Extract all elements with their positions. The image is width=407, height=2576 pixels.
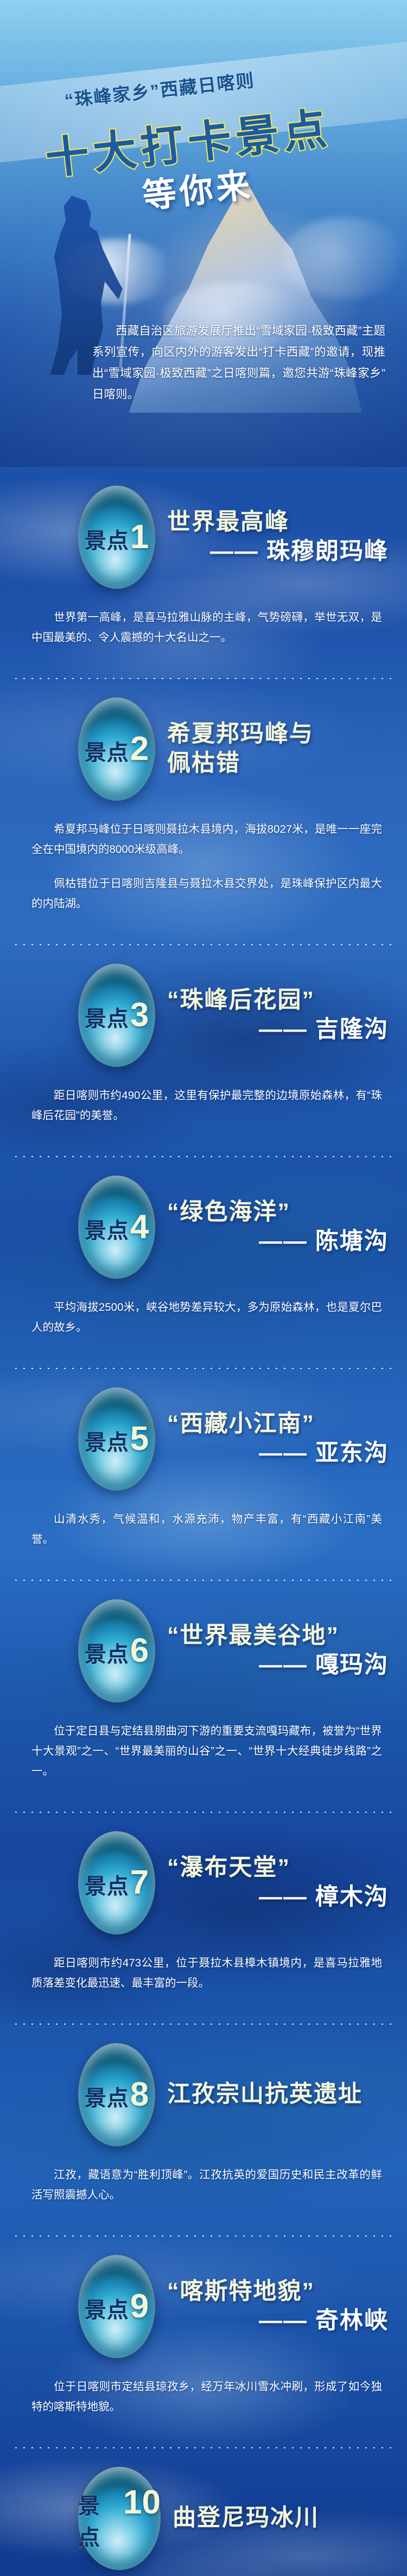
spot-header: 景点5“西藏小江南”—— 亚东沟 (18, 1387, 389, 1491)
spot-description: 距日喀则市约490公里，这里有保护最完整的边境原始森林，有“珠峰后花园”的美誉。 (31, 1085, 382, 1126)
spot-number-badge[interactable]: 景点3 (78, 964, 155, 1067)
intro-paragraph: 西藏自治区旅游发展厅推出“雪域家园·极致西藏”主题系列宣传，向区内外的游客发出“… (92, 321, 385, 405)
badge-inner: 景点2 (85, 734, 149, 766)
spot-description-paragraph: 希夏邦马峰位于日喀则聂拉木县境内，海拔8027米，是唯一一座完全在中国境内的80… (31, 819, 382, 859)
spot-description: 距日喀则市约473公里，位于聂拉木县樟木镇境内，是喜马拉雅地质落差变化最迅速、最… (31, 1953, 382, 1993)
spot-section: 景点7“瀑布天堂”—— 樟木沟距日喀则市约473公里，位于聂拉木县樟木镇境内，是… (0, 1813, 407, 2025)
spot-content: 景点3“珠峰后花园”—— 吉隆沟距日喀则市约490公里，这里有保护最完整的边境原… (0, 945, 407, 1142)
badge-number: 5 (130, 1424, 149, 1454)
spot-header: 景点6“世界最美谷地”—— 嘎玛沟 (18, 1599, 389, 1702)
spot-description-paragraph: 江孜，藏语意为“胜利顶峰”。江孜抗英的爱国历史和民主改革的鲜活写照震撼人心。 (31, 2165, 382, 2205)
section-divider (12, 944, 395, 945)
spot-title: “瀑布天堂”—— 樟木沟 (167, 1854, 389, 1912)
spot-description-paragraph: 佩枯错位于日喀则吉隆县与聂拉木县交界处，是珠峰保护区内最大的内陆湖。 (31, 874, 382, 914)
spot-title: 曲登尼玛冰川 (173, 2504, 389, 2533)
section-divider (12, 1156, 395, 1157)
spot-header: 景点8江孜宗山抗英遗址 (18, 2043, 389, 2146)
header-banner: “珠峰家乡”西藏日喀则 十大打卡景点 等你来 西藏自治区旅游发展厅推出“雪域家园… (0, 0, 407, 467)
spot-section: 景点4“绿色海洋”—— 陈塘沟平均海拔2500米，峡谷地势差异较大，多为原始森林… (0, 1157, 407, 1369)
spot-title: 江孜宗山抗英遗址 (167, 2080, 389, 2109)
spot-title: “喀斯特地貌”—— 奇林峡 (167, 2277, 389, 2336)
section-divider (12, 678, 395, 679)
spot-section: 景点8江孜宗山抗英遗址江孜，藏语意为“胜利顶峰”。江孜抗英的爱国历史和民主改革的… (0, 2025, 407, 2236)
spot-title-line-1: “瀑布天堂” (167, 1854, 389, 1883)
spot-header: 景点2希夏邦玛峰与佩枯错 (18, 698, 389, 801)
badge-inner: 景点4 (85, 1212, 149, 1245)
spot-description: 平均海拔2500米，峡谷地势差异较大，多为原始森林，也是夏尔巴人的故乡。 (31, 1297, 382, 1337)
badge-inner: 景点7 (85, 1868, 149, 1900)
spot-title: “西藏小江南”—— 亚东沟 (167, 1410, 389, 1468)
badge-label: 景点 (85, 1637, 129, 1668)
infographic-page: “珠峰家乡”西藏日喀则 十大打卡景点 等你来 西藏自治区旅游发展厅推出“雪域家园… (0, 0, 407, 2576)
spot-description-paragraph: 位于日喀则市定结县琼孜乡，经万年冰川雪水冲刷，形成了如今独特的喀斯特地貌。 (31, 2377, 382, 2417)
spot-section: 景点2希夏邦玛峰与佩枯错希夏邦马峰位于日喀则聂拉木县境内，海拔8027米，是唯一… (0, 679, 407, 945)
spot-number-badge[interactable]: 景点2 (78, 698, 155, 801)
spot-title: “珠峰后花园”—— 吉隆沟 (167, 986, 389, 1045)
spot-header: 景点4“绿色海洋”—— 陈塘沟 (18, 1176, 389, 1279)
spot-description-paragraph: 山清水秀，气候温和，水源充沛，物产丰富，有“西藏小江南”美誉。 (31, 1509, 382, 1549)
spot-description: 山清水秀，气候温和，水源充沛，物产丰富，有“西藏小江南”美誉。 (31, 1509, 382, 1549)
spot-title-line-2: —— 吉隆沟 (167, 1015, 389, 1045)
spot-title-line-1: 世界最高峰 (167, 508, 389, 537)
spot-title-line-1: 江孜宗山抗英遗址 (167, 2080, 389, 2109)
spot-header: 景点9“喀斯特地貌”—— 奇林峡 (18, 2255, 389, 2358)
spot-section: 景点9“喀斯特地貌”—— 奇林峡位于日喀则市定结县琼孜乡，经万年冰川雪水冲刷，形… (0, 2236, 407, 2448)
spot-description: 世界第一高峰，是喜马拉雅山脉的主峰，气势磅礴，举世无双，是中国最美的、令人震撼的… (31, 607, 382, 648)
section-divider (12, 1368, 395, 1369)
spot-description-paragraph: 平均海拔2500米，峡谷地势差异较大，多为原始森林，也是夏尔巴人的故乡。 (31, 1297, 382, 1337)
badge-label: 景点 (78, 2489, 122, 2552)
spot-title-line-1: 希夏邦玛峰与 (167, 720, 389, 749)
spot-header: 景点10曲登尼玛冰川 (18, 2467, 389, 2570)
badge-inner: 景点1 (85, 522, 149, 555)
spot-description-paragraph: 距日喀则市约490公里，这里有保护最完整的边境原始森林，有“珠峰后花园”的美誉。 (31, 1085, 382, 1126)
spot-title-line-1: “喀斯特地貌” (167, 2277, 389, 2307)
spot-title: 希夏邦玛峰与佩枯错 (167, 720, 389, 778)
badge-label: 景点 (85, 2081, 129, 2112)
badge-number: 2 (130, 734, 149, 764)
spot-number-badge[interactable]: 景点1 (78, 486, 155, 589)
spot-title-line-1: “西藏小江南” (167, 1410, 389, 1439)
spot-header: 景点7“瀑布天堂”—— 樟木沟 (18, 1831, 389, 1934)
spot-content: 景点9“喀斯特地貌”—— 奇林峡位于日喀则市定结县琼孜乡，经万年冰川雪水冲刷，形… (0, 2236, 407, 2433)
spot-content: 景点4“绿色海洋”—— 陈塘沟平均海拔2500米，峡谷地势差异较大，多为原始森林… (0, 1157, 407, 1354)
spot-title-line-1: “珠峰后花园” (167, 986, 389, 1015)
spot-number-badge[interactable]: 景点7 (78, 1831, 155, 1934)
spot-title-line-1: “世界最美谷地” (167, 1622, 389, 1651)
spot-section: 景点1世界最高峰—— 珠穆朗玛峰世界第一高峰，是喜马拉雅山脉的主峰，气势磅礴，举… (0, 467, 407, 679)
spot-title-line-2: —— 嘎玛沟 (167, 1651, 389, 1680)
spot-section: 景点3“珠峰后花园”—— 吉隆沟距日喀则市约490公里，这里有保护最完整的边境原… (0, 945, 407, 1157)
section-divider (12, 1580, 395, 1581)
badge-label: 景点 (85, 523, 129, 555)
spot-description-paragraph: 距日喀则市约473公里，位于聂拉木县樟木镇境内，是喜马拉雅地质落差变化最迅速、最… (31, 1953, 382, 1993)
badge-inner: 景点9 (85, 2291, 149, 2324)
section-divider (12, 2447, 395, 2448)
badge-number: 8 (130, 2079, 149, 2110)
spot-description: 位于日喀则市定结县琼孜乡，经万年冰川雪水冲刷，形成了如今独特的喀斯特地貌。 (31, 2377, 382, 2417)
spot-description: 希夏邦马峰位于日喀则聂拉木县境内，海拔8027米，是唯一一座完全在中国境内的80… (31, 819, 382, 914)
spot-title: “绿色海洋”—— 陈塘沟 (167, 1198, 389, 1256)
spot-title-line-2: —— 亚东沟 (167, 1439, 389, 1468)
badge-number: 1 (130, 522, 149, 552)
spot-section: 景点5“西藏小江南”—— 亚东沟山清水秀，气候温和，水源充沛，物产丰富，有“西藏… (0, 1369, 407, 1581)
spot-number-badge[interactable]: 景点4 (78, 1176, 155, 1279)
spot-title: “世界最美谷地”—— 嘎玛沟 (167, 1622, 389, 1680)
section-divider (12, 2235, 395, 2236)
spot-description: 位于定日县与定结县朋曲河下游的重要支流嘎玛藏布，被誉为“世界十大景观”之一、“世… (31, 1721, 382, 1781)
spot-content: 景点7“瀑布天堂”—— 樟木沟距日喀则市约473公里，位于聂拉木县樟木镇境内，是… (0, 1813, 407, 2009)
spot-title-line-1: “绿色海洋” (167, 1198, 389, 1227)
spot-list: 景点1世界最高峰—— 珠穆朗玛峰世界第一高峰，是喜马拉雅山脉的主峰，气势磅礴，举… (0, 467, 407, 2576)
spot-title-line-2: 佩枯错 (167, 749, 389, 778)
badge-label: 景点 (85, 1425, 129, 1456)
badge-number: 7 (130, 1868, 149, 1898)
spot-description-paragraph: 位于定日县与定结县朋曲河下游的重要支流嘎玛藏布，被誉为“世界十大景观”之一、“世… (31, 1721, 382, 1781)
spot-title-line-2: —— 奇林峡 (167, 2307, 389, 2336)
spot-description-paragraph: 世界第一高峰，是喜马拉雅山脉的主峰，气势磅礴，举世无双，是中国最美的、令人震撼的… (31, 607, 382, 648)
spot-description: 江孜，藏语意为“胜利顶峰”。江孜抗英的爱国历史和民主改革的鲜活写照震撼人心。 (31, 2165, 382, 2205)
spot-section: 景点6“世界最美谷地”—— 嘎玛沟位于定日县与定结县朋曲河下游的重要支流嘎玛藏布… (0, 1581, 407, 1813)
spot-header: 景点3“珠峰后花园”—— 吉隆沟 (18, 964, 389, 1067)
spot-number-badge[interactable]: 景点6 (78, 1599, 155, 1702)
badge-number: 4 (130, 1212, 149, 1242)
badge-label: 景点 (85, 1869, 129, 1900)
badge-label: 景点 (85, 1001, 129, 1033)
spot-header: 景点1世界最高峰—— 珠穆朗玛峰 (18, 486, 389, 589)
section-divider (12, 1812, 395, 1813)
spot-number-badge[interactable]: 景点9 (78, 2255, 155, 2358)
spot-content: 景点5“西藏小江南”—— 亚东沟山清水秀，气候温和，水源充沛，物产丰富，有“西藏… (0, 1369, 407, 1566)
badge-label: 景点 (85, 2292, 129, 2324)
badge-label: 景点 (85, 735, 129, 766)
spot-section: 景点10曲登尼玛冰川位于日喀则市岗巴县，是“西藏神水”矿泉水的水源地。《中国国家… (0, 2448, 407, 2576)
spot-content: 景点6“世界最美谷地”—— 嘎玛沟位于定日县与定结县朋曲河下游的重要支流嘎玛藏布… (0, 1581, 407, 1798)
spot-title-line-2: —— 陈塘沟 (167, 1227, 389, 1256)
spot-number-badge[interactable]: 景点5 (78, 1387, 155, 1491)
spot-content: 景点10曲登尼玛冰川位于日喀则市岗巴县，是“西藏神水”矿泉水的水源地。《中国国家… (0, 2448, 407, 2576)
spot-title-line-1: 曲登尼玛冰川 (173, 2504, 389, 2533)
badge-inner: 景点6 (85, 1636, 149, 1668)
cloud-puff-icon (282, 217, 407, 299)
spot-content: 景点1世界最高峰—— 珠穆朗玛峰世界第一高峰，是喜马拉雅山脉的主峰，气势磅礴，举… (0, 467, 407, 664)
badge-number: 6 (130, 1636, 149, 1666)
badge-number: 9 (130, 2291, 149, 2322)
spot-number-badge[interactable]: 景点8 (78, 2043, 155, 2146)
spot-title: 世界最高峰—— 珠穆朗玛峰 (167, 508, 389, 567)
section-divider (12, 2024, 395, 2025)
badge-number: 3 (130, 1000, 149, 1031)
badge-inner: 景点3 (85, 1000, 149, 1033)
spot-title-line-2: —— 樟木沟 (167, 1883, 389, 1912)
badge-inner: 景点10 (78, 2487, 161, 2552)
badge-number: 10 (123, 2487, 161, 2518)
badge-label: 景点 (85, 1213, 129, 1245)
badge-inner: 景点5 (85, 1424, 149, 1456)
spot-title-line-2: —— 珠穆朗玛峰 (167, 537, 389, 567)
spot-number-badge[interactable]: 景点10 (78, 2467, 161, 2570)
spot-content: 景点2希夏邦玛峰与佩枯错希夏邦马峰位于日喀则聂拉木县境内，海拔8027米，是唯一… (0, 679, 407, 930)
badge-inner: 景点8 (85, 2079, 149, 2112)
spot-content: 景点8江孜宗山抗英遗址江孜，藏语意为“胜利顶峰”。江孜抗英的爱国历史和民主改革的… (0, 2025, 407, 2221)
